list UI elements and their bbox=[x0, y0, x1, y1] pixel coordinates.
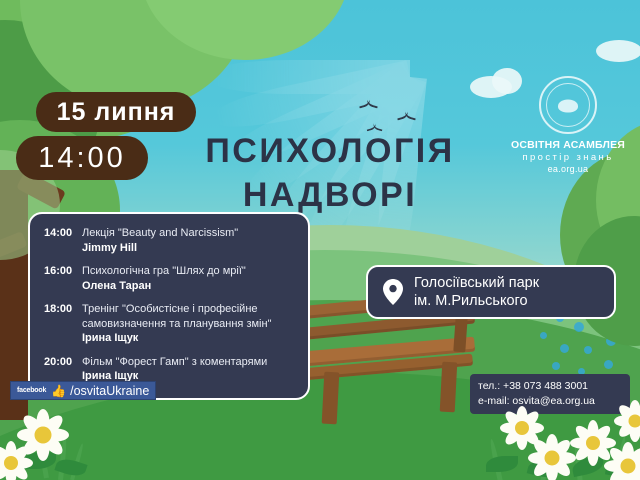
daisy-icon bbox=[610, 396, 640, 446]
schedule-time: 14:00 bbox=[44, 226, 82, 255]
schedule-time: 16:00 bbox=[44, 264, 82, 293]
schedule-row: 14:00 Лекція "Beauty and Narcissism" Jim… bbox=[44, 226, 294, 255]
facebook-wordmark: facebook bbox=[17, 387, 46, 394]
schedule-details: Лекція "Beauty and Narcissism" Jimmy Hil… bbox=[82, 226, 238, 255]
location-line-2: ім. М.Рильського bbox=[414, 292, 539, 310]
schedule-row: 20:00 Фільм "Форест Гамп" з коментарями … bbox=[44, 355, 294, 384]
schedule-details: Психологічна гра "Шлях до мрії" Олена Та… bbox=[82, 264, 246, 293]
organization-logo: ОСВІТНЯ АСАМБЛЕЯ простір знань ea.org.ua bbox=[506, 76, 630, 174]
schedule-row: 18:00 Тренінг "Особистісне і професійне … bbox=[44, 302, 294, 346]
emblem-seal-icon bbox=[539, 76, 597, 134]
schedule-card: 14:00 Лекція "Beauty and Narcissism" Jim… bbox=[28, 212, 310, 400]
page-title: ПСИХОЛОГІЯ НАДВОРІ bbox=[180, 130, 480, 217]
schedule-description: Фільм "Форест Гамп" з коментарями bbox=[82, 356, 267, 368]
schedule-description: Лекція "Beauty and Narcissism" bbox=[82, 227, 238, 239]
map-pin-icon bbox=[380, 279, 406, 305]
schedule-speaker: Олена Таран bbox=[82, 280, 151, 292]
contact-block: тел.: +38 073 488 3001 e-mail: osvita@ea… bbox=[470, 374, 630, 414]
schedule-description: Психологічна гра "Шлях до мрії" bbox=[82, 265, 246, 277]
time-badge: 14:00 bbox=[16, 136, 148, 180]
schedule-time: 20:00 bbox=[44, 355, 82, 384]
cloud-icon bbox=[596, 40, 640, 62]
schedule-row: 16:00 Психологічна гра "Шлях до мрії" Ол… bbox=[44, 264, 294, 293]
daisy-icon bbox=[0, 436, 38, 480]
logo-tagline: простір знань bbox=[506, 152, 630, 163]
facebook-handle: /osvitaUkraine bbox=[70, 384, 149, 398]
thumbs-up-icon: 👍 bbox=[51, 385, 66, 397]
location-line-1: Голосіївський парк bbox=[414, 274, 539, 292]
schedule-time: 18:00 bbox=[44, 302, 82, 346]
bird-icon bbox=[358, 96, 380, 106]
location-text: Голосіївський парк ім. М.Рильського bbox=[414, 274, 539, 310]
bird-icon bbox=[396, 108, 418, 118]
schedule-description: Тренінг "Особистісне і професійне самови… bbox=[82, 303, 271, 330]
schedule-details: Тренінг "Особистісне і професійне самови… bbox=[82, 302, 294, 346]
title-line-2: НАДВОРІ bbox=[180, 174, 480, 218]
location-card: Голосіївський парк ім. М.Рильського bbox=[366, 265, 616, 319]
contact-phone: тел.: +38 073 488 3001 bbox=[478, 379, 622, 394]
event-poster: 15 липня 14:00 ПСИХОЛОГІЯ НАДВОРІ 14:00 … bbox=[0, 0, 640, 480]
logo-website: ea.org.ua bbox=[506, 164, 630, 174]
schedule-speaker: Ірина Іщук bbox=[82, 332, 138, 344]
schedule-speaker: Jimmy Hill bbox=[82, 242, 137, 254]
title-line-1: ПСИХОЛОГІЯ bbox=[180, 130, 480, 174]
logo-name: ОСВІТНЯ АСАМБЛЕЯ bbox=[506, 139, 630, 151]
date-badge: 15 липня bbox=[36, 92, 196, 132]
facebook-badge[interactable]: facebook 👍 /osvitaUkraine bbox=[10, 381, 156, 400]
bird-icon bbox=[366, 121, 385, 130]
schedule-details: Фільм "Форест Гамп" з коментарями Ірина … bbox=[82, 355, 267, 384]
